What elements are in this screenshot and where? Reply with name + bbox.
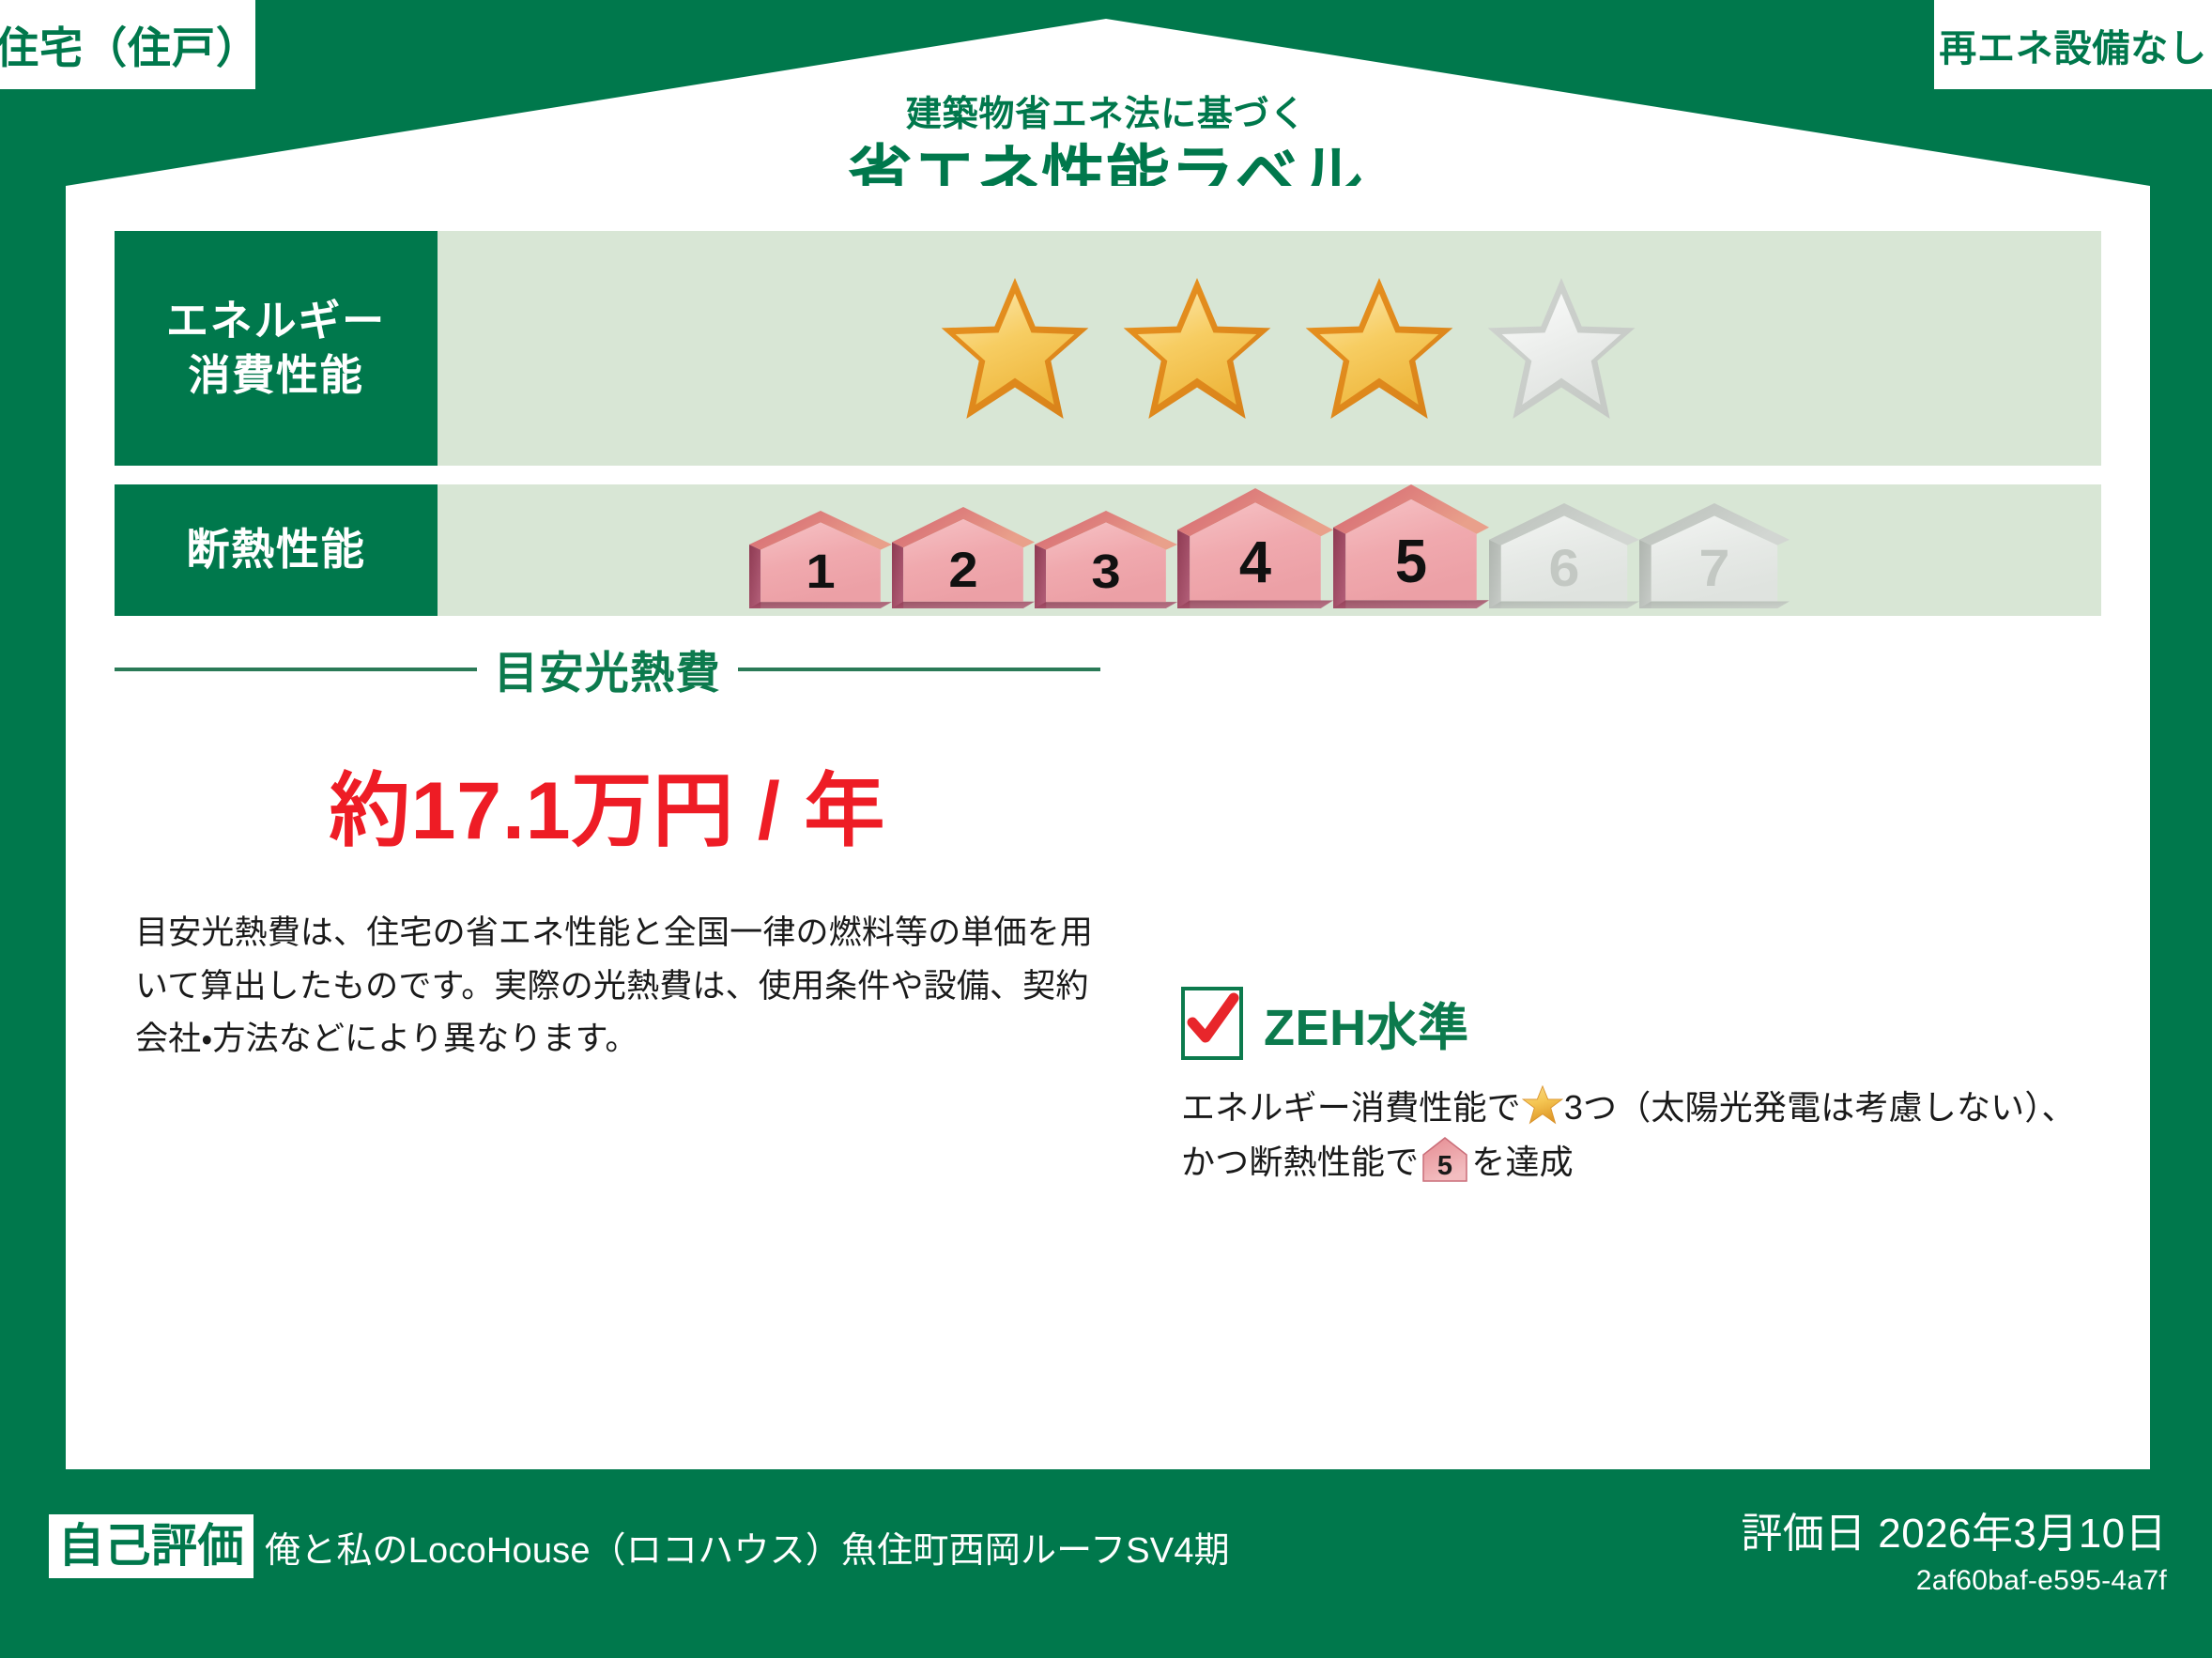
house-badge-inactive: 7 <box>1639 503 1790 608</box>
house-icon-inline: 5 <box>1421 1136 1468 1183</box>
utility-cost-section: 目安光熱費 約17.1万円 / 年 目安光熱費は、住宅の省エネ性能と全国一律の燃… <box>115 637 1100 1067</box>
row-energy-performance: エネルギー 消費性能 <box>115 231 2101 466</box>
row-insulation-label-line1: 断熱性能 <box>186 522 365 578</box>
utility-cost-value: 約17.1万円 / 年 <box>115 745 1100 862</box>
utility-cost-heading: 目安光熱費 <box>115 637 1100 701</box>
house-icon-inline-number: 5 <box>1437 1151 1452 1181</box>
badge-renewable-label: 再エネ設備なし <box>1939 18 2207 72</box>
energy-label-root: 住宅（住戸） 再エネ設備なし 建築物省エネ法に基づく 省エネ性能ラベル エネルギ… <box>0 0 2212 1658</box>
house-badge-active: 3 <box>1035 511 1177 608</box>
house-badge-active: 5 <box>1333 484 1489 608</box>
evaluation-date: 評価日 2026年3月10日 <box>1741 1499 2167 1559</box>
house-badge-number: 5 <box>1395 528 1427 595</box>
star-icon-filled <box>936 273 1094 423</box>
star-icon-empty <box>1482 273 1640 423</box>
zeh-checkbox[interactable] <box>1181 987 1243 1060</box>
insulation-level-scale: 1234567 <box>438 484 2101 616</box>
house-badge-number: 3 <box>1091 545 1120 598</box>
house-badge-number: 1 <box>806 545 835 598</box>
check-icon <box>1183 992 1241 1054</box>
utility-cost-heading-label: 目安光熱費 <box>494 637 721 701</box>
house-badge-number: 4 <box>1239 530 1272 596</box>
row-energy-label: エネルギー 消費性能 <box>115 231 438 466</box>
star-icon-filled <box>1300 273 1458 423</box>
heading-rule-right <box>738 668 1100 671</box>
footer: 自己評価 俺と私のLocoHouse（ロコハウス）魚住町西岡ルーフSV4期 評価… <box>0 1469 2212 1658</box>
building-name: 俺と私のLocoHouse（ロコハウス）魚住町西岡ルーフSV4期 <box>265 1521 1230 1573</box>
evaluation-id: 2af60baf-e595-4a7f <box>1741 1565 2167 1597</box>
footer-left: 自己評価 俺と私のLocoHouse（ロコハウス）魚住町西岡ルーフSV4期 <box>49 1514 1230 1578</box>
zeh-description: エネルギー消費性能で 3つ（太陽光発電は考慮しない）、かつ断熱性能で <box>1181 1081 2082 1190</box>
zeh-title-row: ZEH水準 <box>1181 986 2082 1060</box>
house-badge-inactive: 6 <box>1489 503 1639 608</box>
house-badge-active: 2 <box>892 507 1035 608</box>
star-rating <box>438 231 2101 466</box>
house-badge-active: 1 <box>749 511 892 608</box>
badge-building-type-label: 住宅（住戸） <box>0 14 260 76</box>
badge-building-type: 住宅（住戸） <box>0 0 255 89</box>
zeh-title: ZEH水準 <box>1264 986 1469 1060</box>
zeh-description-part1: エネルギー消費性能で <box>1181 1088 1521 1127</box>
row-insulation-performance: 断熱性能 1234567 <box>115 484 2101 616</box>
row-energy-label-line2: 消費性能 <box>188 348 363 404</box>
zeh-description-part3: を達成 <box>1471 1143 1574 1181</box>
row-insulation-label: 断熱性能 <box>115 484 438 616</box>
star-icon-inline <box>1522 1085 1563 1125</box>
zeh-section: ZEH水準 エネルギー消費性能で 3つ（太陽光発電は考慮しない）、かつ断熱性能 <box>1181 986 2082 1190</box>
utility-cost-note: 目安光熱費は、住宅の省エネ性能と全国一律の燃料等の単価を用いて算出したものです。… <box>115 907 1100 1067</box>
star-icon-filled <box>1118 273 1276 423</box>
house-badge-number: 2 <box>948 541 977 597</box>
badge-self-evaluation: 自己評価 <box>49 1514 253 1578</box>
heading-rule-left <box>115 668 477 671</box>
house-badge-active: 4 <box>1177 488 1333 608</box>
row-energy-label-line1: エネルギー <box>166 294 386 349</box>
label-card: エネルギー 消費性能 断熱性能 1234567 目安光熱費 約17.1万円 / … <box>66 186 2150 1469</box>
house-badge-number: 6 <box>1549 540 1580 598</box>
badge-renewable-equipment: 再エネ設備なし <box>1934 0 2212 89</box>
footer-right: 評価日 2026年3月10日 2af60baf-e595-4a7f <box>1741 1499 2167 1597</box>
house-badge-number: 7 <box>1699 540 1730 598</box>
